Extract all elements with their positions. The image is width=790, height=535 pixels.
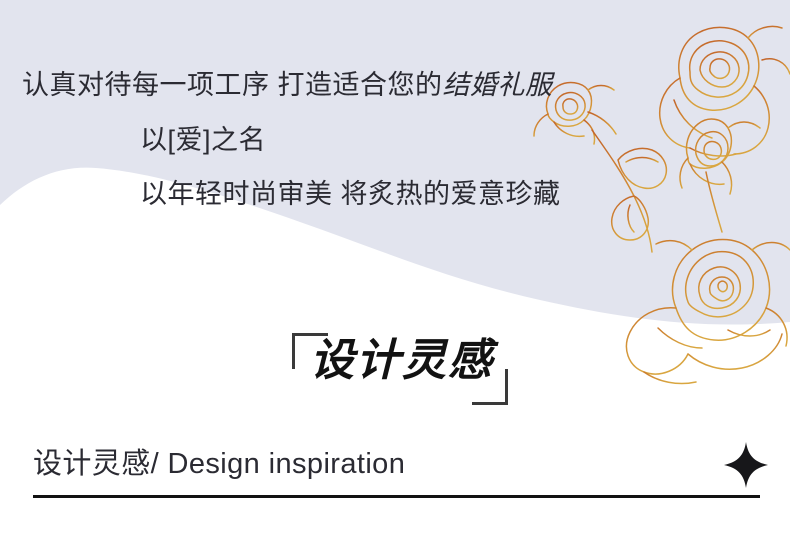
section-subtitle: 设计灵感/ Design inspiration <box>33 440 405 482</box>
headline-line-3: 以年轻时尚审美 将炙热的爱意珍藏 <box>140 181 561 208</box>
headline-line-1-emphasis: 结婚礼服 <box>443 70 553 100</box>
section-title: 设计灵感 <box>310 337 494 385</box>
horizontal-rule <box>33 495 760 498</box>
design-inspiration-banner: 认真对待每一项工序 打造适合您的结婚礼服 以[爱]之名 以年轻时尚审美 将炙热的… <box>0 0 790 535</box>
headline-line-1-plain: 认真对待每一项工序 打造适合您的 <box>22 70 443 100</box>
headline-line-1: 认真对待每一项工序 打造适合您的结婚礼服 <box>22 72 553 99</box>
four-point-star-icon <box>723 441 769 489</box>
section-title-block: 设计灵感 <box>292 333 508 405</box>
headline-line-2: 以[爱]之名 <box>140 127 266 154</box>
